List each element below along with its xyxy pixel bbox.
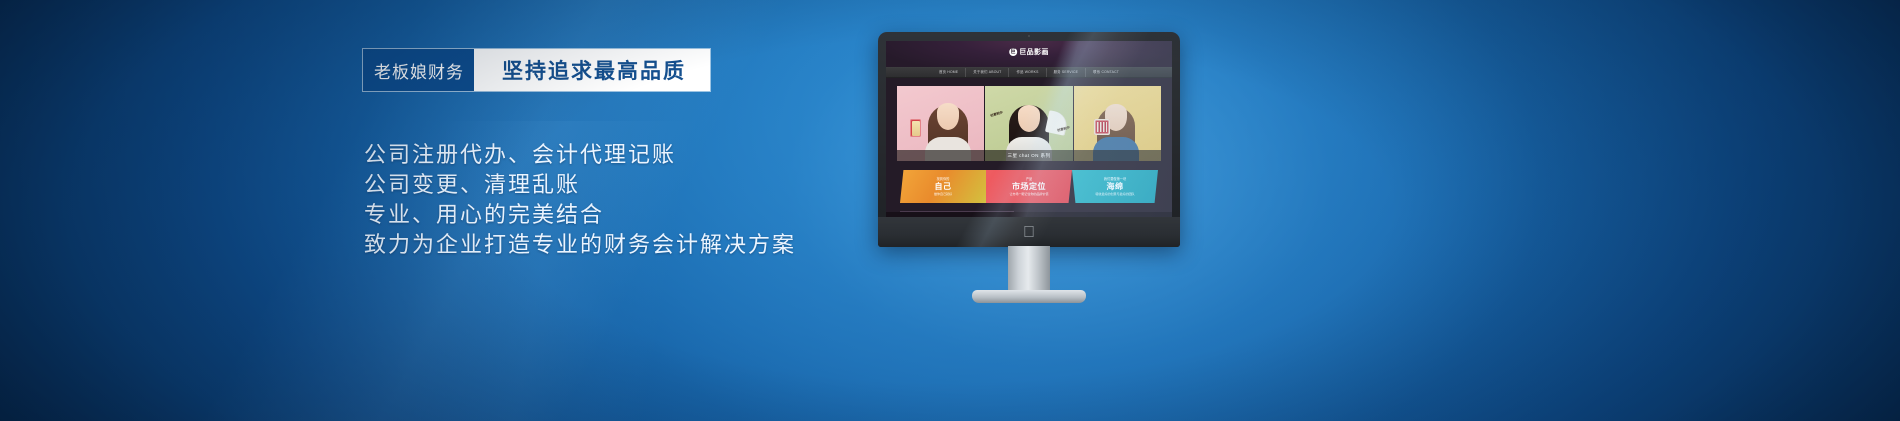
panel-2-top: 产品	[1026, 177, 1032, 182]
hero-banner: 老板娘财务 坚持追求最高品质 公司注册代办、会计代理记账 公司变更、清理乱账 专…	[0, 0, 1900, 421]
fan-prop-icon	[1045, 110, 1069, 136]
apple-icon: 	[1022, 224, 1036, 241]
copy-line-1: 公司注册代办、会计代理记账	[364, 140, 796, 170]
model-face-shape	[937, 103, 959, 130]
panel-1-big: 自己	[935, 182, 952, 192]
site-navigation[interactable]: 首页 HOME 关于我们 ABOUT 作品 WORKS 服务 SERVICE 联…	[886, 67, 1172, 78]
imac-chin: 	[878, 217, 1180, 247]
website-preview: 巨 巨品影画 首页 HOME 关于我们 ABOUT 作品 WORKS 服务 SE…	[886, 41, 1172, 217]
panel-2-bottom: 让市场一眼记住你的品牌价值	[1009, 192, 1048, 197]
site-header: 巨 巨品影画	[886, 41, 1172, 67]
feature-panel-3[interactable]: 我们要做第一块 海绵 吸收最好的创意与最好的团队	[1072, 170, 1158, 203]
site-feature-panels: 找到你的 自己 做你自己就好 产品 市场定位 让市场一眼记住你的品牌价值 我们要…	[900, 170, 1158, 203]
nav-item-home[interactable]: 首页 HOME	[932, 68, 966, 77]
panel-3-top: 我们要做第一块	[1104, 177, 1126, 182]
imac-body: 巨 巨品影画 首页 HOME 关于我们 ABOUT 作品 WORKS 服务 SE…	[878, 32, 1180, 247]
hero-tag-1: 创意制作	[990, 109, 1004, 117]
site-logo-mark-icon: 巨	[1009, 48, 1017, 56]
headline-banner: 老板娘财务 坚持追求最高品质	[362, 48, 711, 92]
imac-mockup: 巨 巨品影画 首页 HOME 关于我们 ABOUT 作品 WORKS 服务 SE…	[878, 32, 1180, 314]
panel-1-top: 找到你的	[937, 177, 950, 182]
hero-caption-bar: 三星 chat ON 系列	[897, 150, 1161, 161]
nav-item-service[interactable]: 服务 SERVICE	[1047, 68, 1087, 77]
site-hero-gallery: 创意制作 创意制作 三星 chat ON 系列	[897, 86, 1161, 161]
copy-line-2: 公司变更、清理乱账	[364, 170, 796, 200]
hero-caption-text: 三星 chat ON 系列	[1008, 150, 1051, 161]
service-copy-list: 公司注册代办、会计代理记账 公司变更、清理乱账 专业、用心的完美结合 致力为企业…	[364, 140, 796, 260]
feature-panel-1[interactable]: 找到你的 自己 做你自己就好	[900, 170, 986, 203]
webcam-icon	[1028, 35, 1030, 37]
site-logo[interactable]: 巨 巨品影画	[1009, 47, 1049, 57]
panel-2-big: 市场定位	[1012, 182, 1046, 192]
panel-3-big: 海绵	[1107, 182, 1124, 192]
copy-line-4: 致力为企业打造专业的财务会计解决方案	[364, 230, 796, 260]
imac-stand-neck	[1008, 246, 1050, 294]
panel-1-bottom: 做你自己就好	[934, 192, 952, 197]
qr-card-prop-icon	[1094, 119, 1110, 135]
nav-item-contact[interactable]: 联系 CONTACT	[1086, 68, 1126, 77]
brand-tag: 老板娘财务	[363, 49, 474, 91]
imac-screen: 巨 巨品影画 首页 HOME 关于我们 ABOUT 作品 WORKS 服务 SE…	[886, 41, 1172, 217]
panel-3-bottom: 吸收最好的创意与最好的团队	[1095, 192, 1134, 197]
site-logo-text: 巨品影画	[1019, 47, 1049, 57]
feature-panel-2[interactable]: 产品 市场定位 让市场一眼记住你的品牌价值	[986, 170, 1072, 203]
phone-prop-icon	[910, 119, 921, 137]
imac-stand-base	[972, 290, 1086, 303]
nav-item-about[interactable]: 关于我们 ABOUT	[966, 68, 1009, 77]
slogan-tag: 坚持追求最高品质	[474, 49, 710, 91]
model-face-shape	[1018, 105, 1040, 132]
nav-item-works[interactable]: 作品 WORKS	[1009, 68, 1046, 77]
copy-line-3: 专业、用心的完美结合	[364, 200, 796, 230]
